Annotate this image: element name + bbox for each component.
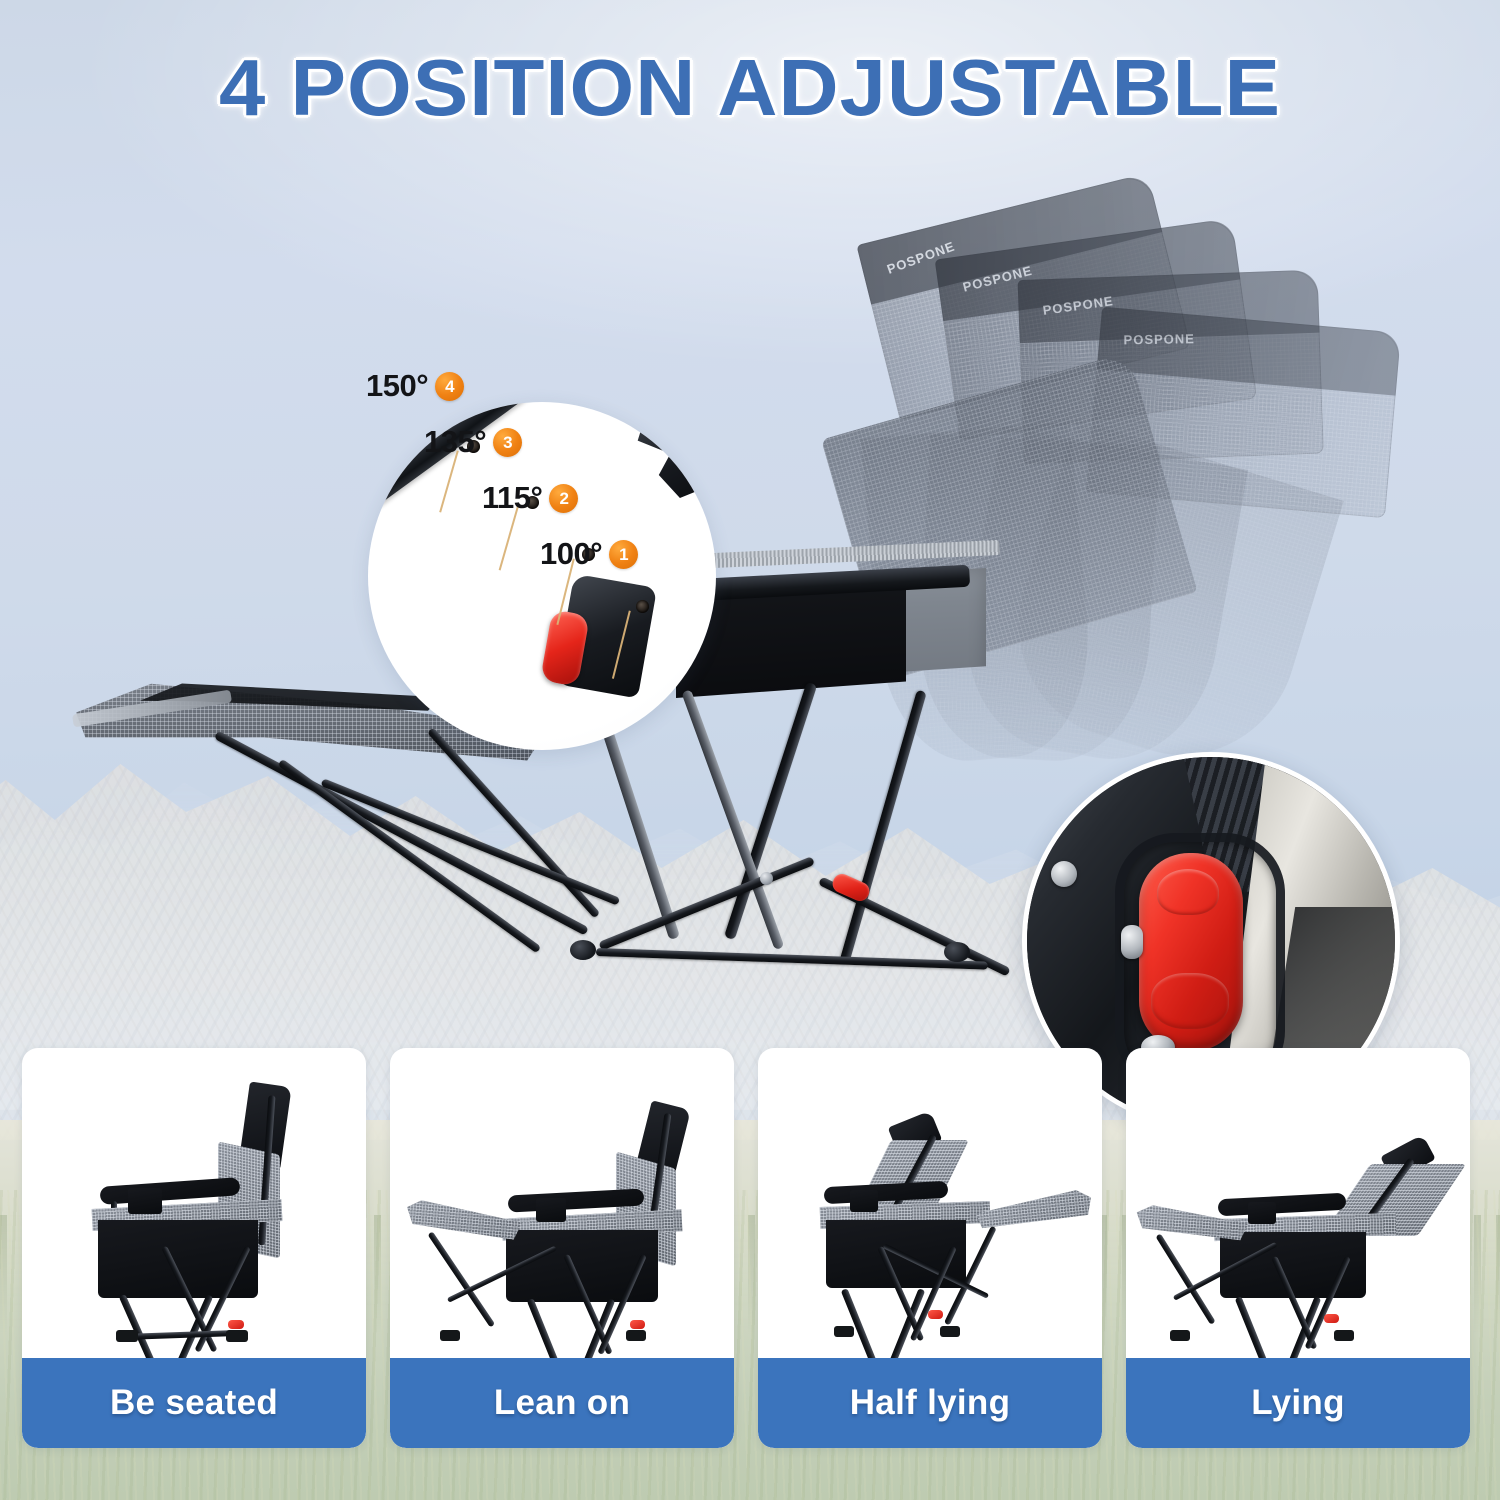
- hero-chair-illustration: POSPONE POSPONE POSPONE POSPONE: [0, 130, 1500, 1050]
- notch-hole-1: [636, 600, 649, 613]
- panel-caption-be-seated: Be seated: [22, 1358, 366, 1448]
- chair-thumb-half-lying: [758, 1048, 1102, 1358]
- panel-caption-lying: Lying: [1126, 1358, 1470, 1448]
- chair-leg-front-right: [724, 682, 817, 940]
- panel-caption-lean-on: Lean on: [390, 1358, 734, 1448]
- angle-callout-4: 150° 4: [366, 368, 464, 404]
- footrest-strut-a: [214, 731, 589, 936]
- product-feature-image: 4 POSITION ADJUSTABLE POSPONE POSPONE PO…: [0, 0, 1500, 1500]
- angle-value-1: 100°: [540, 536, 602, 572]
- lens-frame-knuckle: [630, 416, 716, 498]
- thumb4-armrest: [1218, 1193, 1347, 1217]
- chair-thumb-lying: [1126, 1048, 1470, 1358]
- thumb4-cupholder: [1248, 1202, 1276, 1224]
- thumb1-foot-right: [226, 1330, 248, 1342]
- thumb3-foot-left: [834, 1326, 854, 1337]
- brand-logo-ghost-4: POSPONE: [1123, 332, 1195, 348]
- footrest-strut-d: [321, 778, 621, 905]
- angle-step-badge-2: 2: [549, 484, 578, 513]
- position-panel-lean-on[interactable]: Lean on: [390, 1048, 734, 1448]
- position-panel-lying[interactable]: Lying: [1126, 1048, 1470, 1448]
- chair-base-bar: [596, 948, 988, 970]
- angle-step-badge-3: 3: [493, 428, 522, 457]
- thumb4-lever: [1324, 1314, 1339, 1323]
- thumb4-foot-left: [1170, 1330, 1190, 1341]
- panel-caption-half-lying: Half lying: [758, 1358, 1102, 1448]
- recline-angle-lens: [368, 402, 716, 750]
- detail-screw-top-left: [1051, 861, 1077, 887]
- leg-pivot-screw: [760, 872, 773, 885]
- lever-emboss-top: [1157, 869, 1219, 915]
- thumb3-foot-right: [940, 1326, 960, 1337]
- thumb2-foot-left: [440, 1330, 460, 1341]
- thumb2-cupholder: [536, 1198, 566, 1222]
- thumb2-footrest: [405, 1199, 524, 1243]
- detail-screw-mid-left: [1121, 925, 1143, 959]
- thumb2-foot-right: [626, 1330, 646, 1341]
- thumb1-foot-left: [116, 1330, 138, 1342]
- lever-emboss-bottom: [1151, 973, 1229, 1029]
- angle-step-badge-1: 1: [609, 540, 638, 569]
- angle-value-2: 115°: [482, 480, 542, 516]
- thumb1-lever: [228, 1320, 244, 1329]
- thumb1-cupholder: [128, 1188, 162, 1214]
- angle-value-3: 135°: [424, 424, 486, 460]
- angle-callout-3: 135° 3: [424, 424, 522, 460]
- leader-line-3: [499, 507, 519, 571]
- angle-callout-1: 100° 1: [540, 536, 638, 572]
- leg-joint-bottom-right: [944, 942, 970, 962]
- push-lever-button: [1139, 853, 1243, 1051]
- angle-callout-2: 115° 2: [482, 480, 578, 516]
- thumb3-lever: [928, 1310, 943, 1319]
- chair-crossbar-left: [598, 856, 815, 951]
- position-panel-be-seated[interactable]: Be seated: [22, 1048, 366, 1448]
- leg-joint-bottom-left: [570, 940, 596, 960]
- chair-thumb-be-seated: [22, 1048, 366, 1358]
- page-title: 4 POSITION ADJUSTABLE: [0, 48, 1500, 128]
- thumb1-seat-skirt: [98, 1220, 258, 1298]
- thumb4-foot-right: [1334, 1330, 1354, 1341]
- chair-thumb-lean-on: [390, 1048, 734, 1358]
- position-panel-half-lying[interactable]: Half lying: [758, 1048, 1102, 1448]
- angle-step-badge-4: 4: [435, 372, 464, 401]
- angle-value-4: 150°: [366, 368, 428, 404]
- thumb2-lever: [630, 1320, 645, 1329]
- thumb3-cupholder: [850, 1190, 878, 1212]
